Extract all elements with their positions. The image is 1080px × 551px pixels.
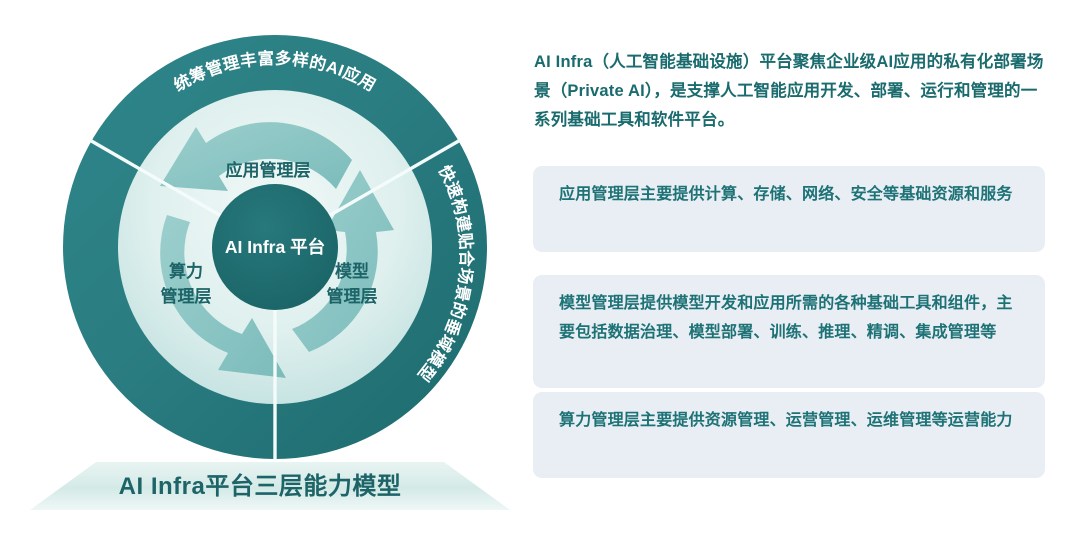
info-card-text: 应用管理层主要提供计算、存储、网络、安全等基础资源和服务 <box>559 186 1013 203</box>
layer-label-compute-line2: 管理层 <box>161 286 212 306</box>
info-card-model: 模型管理层提供模型开发和应用所需的各种基础工具和组件，主要包括数据治理、模型部署… <box>533 275 1045 388</box>
layer-label-model-line2: 管理层 <box>327 286 378 306</box>
info-card-text: 算力管理层主要提供资源管理、运营管理、运维管理等运营能力 <box>559 412 1013 429</box>
info-card-application: 应用管理层主要提供计算、存储、网络、安全等基础资源和服务 <box>533 166 1045 252</box>
banner-platform <box>30 462 510 510</box>
center-label: AI Infra 平台 <box>225 237 325 257</box>
infographic-root: AI Infra 平台 应用管理层 模型 管理层 算力 管理层 统筹管理丰富多样… <box>0 0 1080 551</box>
layer-label-model-line1: 模型 <box>335 261 369 281</box>
layer-label-application: 应用管理层 <box>226 160 311 180</box>
info-card-text: 模型管理层提供模型开发和应用所需的各种基础工具和组件，主要包括数据治理、模型部署… <box>559 295 1013 341</box>
intro-paragraph: AI Infra（人工智能基础设施）平台聚焦企业级AI应用的私有化部署场景（Pr… <box>534 48 1046 135</box>
diagram-svg: AI Infra 平台 应用管理层 模型 管理层 算力 管理层 统筹管理丰富多样… <box>0 0 520 551</box>
layer-label-compute-line1: 算力 <box>168 261 203 281</box>
info-card-compute: 算力管理层主要提供资源管理、运营管理、运维管理等运营能力 <box>533 392 1045 478</box>
description-panel: AI Infra（人工智能基础设施）平台聚焦企业级AI应用的私有化部署场景（Pr… <box>520 0 1080 551</box>
capability-model-diagram: AI Infra 平台 应用管理层 模型 管理层 算力 管理层 统筹管理丰富多样… <box>0 0 520 551</box>
